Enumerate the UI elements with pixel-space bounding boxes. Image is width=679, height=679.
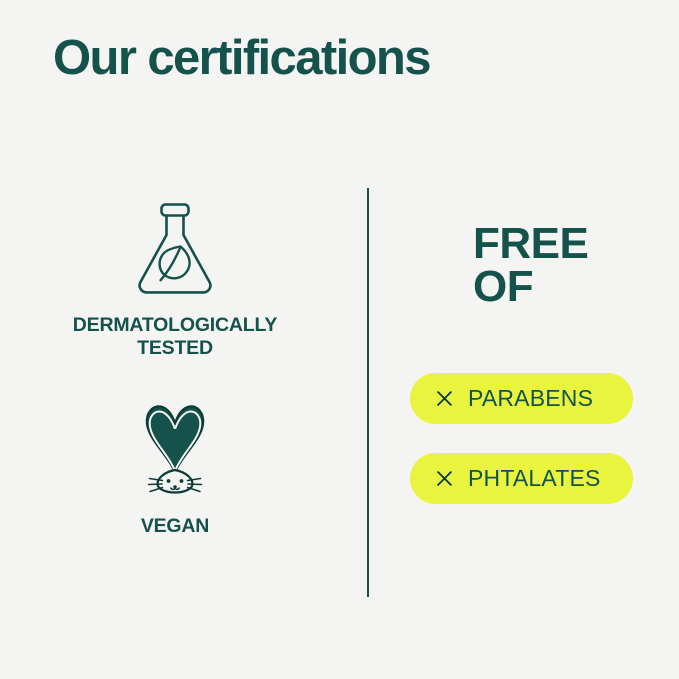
certification-item-vegan: VEGAN: [10, 398, 340, 538]
free-of-heading-line2: OF: [473, 266, 588, 309]
certifications-panel: Our certifications DERMATOLOGICALLY TEST…: [0, 0, 679, 679]
certification-label: VEGAN: [10, 515, 340, 538]
free-of-heading-line1: FREE: [473, 223, 588, 266]
certification-label-line1: DERMATOLOGICALLY: [10, 314, 340, 337]
flask-leaf-icon: [10, 202, 340, 303]
free-of-pill-label: PARABENS: [468, 385, 593, 412]
x-icon: [436, 470, 453, 487]
certification-label-line2: TESTED: [10, 337, 340, 360]
page-title: Our certifications: [53, 32, 430, 86]
right-column: FREE OF PARABENS PHTALATES: [410, 170, 679, 620]
free-of-pill-label: PHTALATES: [468, 465, 601, 492]
certification-label-line1: VEGAN: [10, 515, 340, 538]
certifications-body: DERMATOLOGICALLY TESTED: [0, 170, 679, 620]
free-of-list: PARABENS PHTALATES: [410, 373, 679, 533]
certification-label: DERMATOLOGICALLY TESTED: [10, 314, 340, 360]
certification-item-dermatologically-tested: DERMATOLOGICALLY TESTED: [10, 202, 340, 360]
left-column: DERMATOLOGICALLY TESTED: [0, 170, 350, 620]
column-divider: [367, 188, 369, 597]
x-icon: [436, 390, 453, 407]
free-of-pill-phtalates[interactable]: PHTALATES: [410, 453, 633, 504]
rabbit-heart-icon: [10, 398, 340, 499]
free-of-heading: FREE OF: [473, 223, 588, 308]
free-of-pill-parabens[interactable]: PARABENS: [410, 373, 633, 424]
